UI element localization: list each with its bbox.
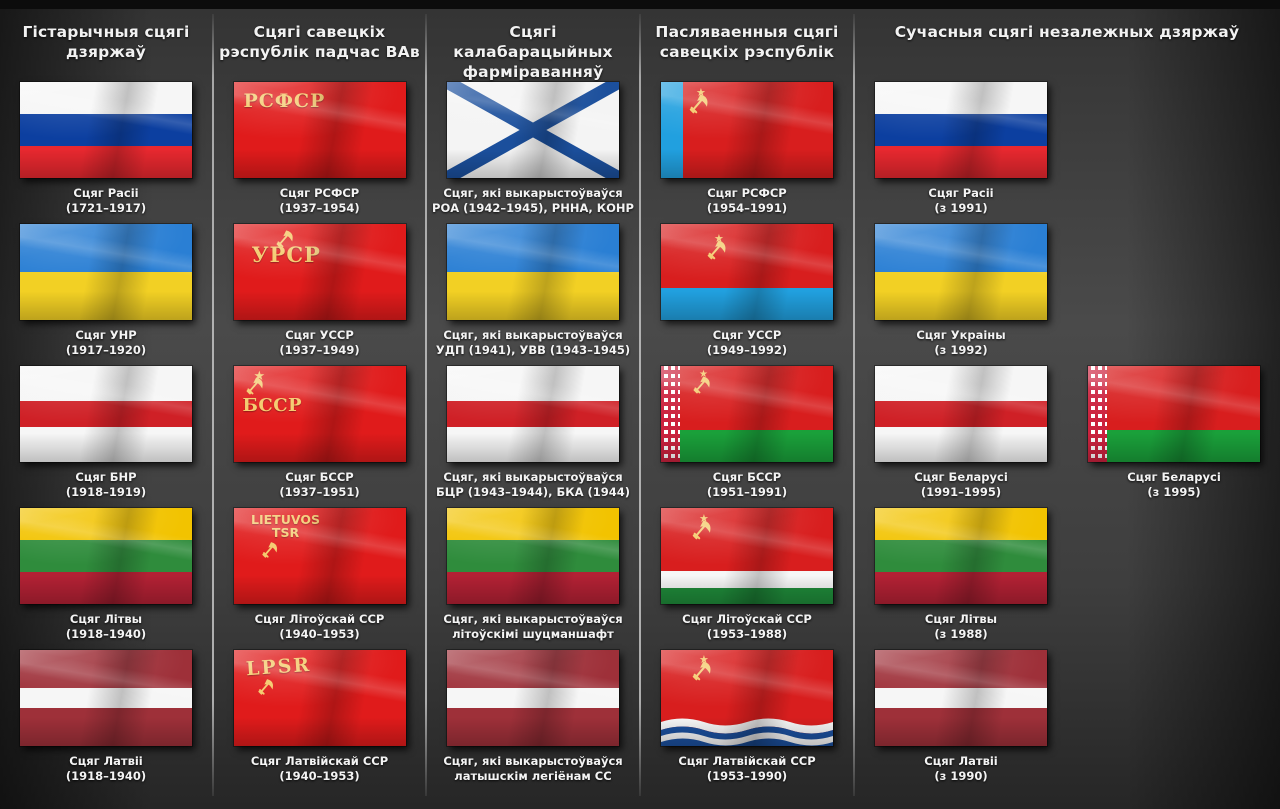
flag-cell: Сцяг Літвы (1918–1940) <box>0 508 212 642</box>
flag-cell: УРСР Сцяг УССР (1937–1949) <box>214 224 425 358</box>
flag-latvian-ssr-1953: ★ <box>661 650 833 746</box>
flag-caption: Сцяг Беларусі (з 1995) <box>1068 470 1280 500</box>
flag-caption: Сцяг УССР (1949–1992) <box>641 328 853 358</box>
flag-cell: Сцяг Літвы (з 1988) <box>855 508 1067 642</box>
flag-byelorussian-ssr-1937: ★ БССР <box>234 366 406 462</box>
flag-caption: Сцяг РСФСР (1937–1954) <box>214 186 425 216</box>
flag-rsfsr-1954: ★ <box>661 82 833 178</box>
hammer-sickle-icon <box>690 519 714 541</box>
flag-caption: Сцяг, які выкарыстоўваўся БЦР (1943–1944… <box>427 470 639 500</box>
flag-caption: Сцяг, які выкарыстоўваўся латышскім легі… <box>427 754 639 784</box>
flag-lithuanian-ssr-1953: ★ <box>661 508 833 604</box>
column-historical-state-flags: Гістарычныя сцягі дзяржаў Сцяг Расіі (17… <box>0 9 212 809</box>
flag-image-wrap <box>0 366 212 462</box>
flag-caption: Сцяг Латвіі (з 1990) <box>855 754 1067 784</box>
hammer-sickle-icon <box>690 660 714 682</box>
flag-ukraine-unr <box>20 224 192 320</box>
flag-caption: Сцяг Літвы (1918–1940) <box>0 612 212 642</box>
flag-ukrainian-ssr-1937: УРСР <box>234 224 406 320</box>
flag-caption: Сцяг Латвійскай ССР (1940–1953) <box>214 754 425 784</box>
flag-inscription: БССР <box>243 395 303 416</box>
flag-image-wrap <box>855 508 1067 604</box>
flag-image-wrap <box>855 366 1067 462</box>
flag-caption: Сцяг Латвіі (1918–1940) <box>0 754 212 784</box>
flag-ukraine-blue-yellow <box>875 224 1047 320</box>
flag-caption: Сцяг Украіны (з 1992) <box>855 328 1067 358</box>
flag-latvia-carmine <box>447 650 619 746</box>
flag-cell: LIETUVOS TSR Сцяг Літоўскай ССР (1940–19… <box>214 508 425 642</box>
flag-caption: Сцяг Літоўскай ССР (1953–1988) <box>641 612 853 642</box>
flag-caption: Сцяг РСФСР (1954–1991) <box>641 186 853 216</box>
flag-roa-saltire <box>447 82 619 178</box>
flag-bnr-white-red-white <box>20 366 192 462</box>
flag-image-wrap: УРСР <box>214 224 425 320</box>
flag-bnr-white-red-white <box>875 366 1047 462</box>
flag-cell: Сцяг Расіі (1721–1917) <box>0 82 212 216</box>
flag-image-wrap <box>0 650 212 746</box>
flag-cell: ★ Сцяг УССР (1949–1992) <box>641 224 853 358</box>
flag-cell: Сцяг, які выкарыстоўваўся літоўскімі шуц… <box>427 508 639 642</box>
hammer-sickle-icon <box>705 239 729 261</box>
flag-caption: Сцяг БНР (1918–1919) <box>0 470 212 500</box>
flag-lithuania-tricolor <box>20 508 192 604</box>
flag-image-wrap <box>1068 366 1280 462</box>
flag-lithuania-tricolor <box>447 508 619 604</box>
flag-caption: Сцяг БССР (1937–1951) <box>214 470 425 500</box>
flag-cell: ★ Сцяг Латвійскай ССР (1953–1990) <box>641 650 853 784</box>
flags-infographic-board: Гістарычныя сцягі дзяржаў Сцяг Расіі (17… <box>0 0 1280 809</box>
flag-cell: Сцяг, які выкарыстоўваўся БЦР (1943–1944… <box>427 366 639 500</box>
hammer-sickle-icon <box>256 678 276 696</box>
flag-image-wrap <box>427 508 639 604</box>
flag-bnr-white-red-white <box>447 366 619 462</box>
hammer-sickle-icon <box>244 376 266 396</box>
flag-lithuanian-ssr-1940: LIETUVOS TSR <box>234 508 406 604</box>
column-soviet-wwii-flags: Сцягі савецкіх рэспублік падчас ВАв РСФС… <box>214 9 425 809</box>
flag-cell: Сцяг, які выкарыстоўваўся латышскім легі… <box>427 650 639 784</box>
flag-caption: Сцяг Латвійскай ССР (1953–1990) <box>641 754 853 784</box>
flag-cell: ★ Сцяг Літоўскай ССР (1953–1988) <box>641 508 853 642</box>
flag-cell: Сцяг Латвіі (1918–1940) <box>0 650 212 784</box>
flag-caption: Сцяг Літвы (з 1988) <box>855 612 1067 642</box>
column-header-1: Гістарычныя сцягі дзяржаў <box>0 9 212 62</box>
flag-russia-tricolor <box>20 82 192 178</box>
flag-inscription: РСФСР <box>244 90 326 112</box>
flag-image-wrap: ★ <box>641 650 853 746</box>
flag-image-wrap <box>855 224 1067 320</box>
flag-inscription: LPSR <box>245 654 312 680</box>
flag-cell: РСФСР Сцяг РСФСР (1937–1954) <box>214 82 425 216</box>
belarus-ornament <box>661 366 680 462</box>
top-bar <box>0 0 1280 9</box>
flag-image-wrap <box>427 366 639 462</box>
flag-image-wrap <box>427 82 639 178</box>
hammer-sickle-icon <box>691 375 713 395</box>
flag-caption: Сцяг УНР (1917–1920) <box>0 328 212 358</box>
hammer-sickle-icon <box>687 93 711 115</box>
flag-image-wrap: ★ БССР <box>214 366 425 462</box>
flag-inscription: LIETUVOS TSR <box>244 513 328 539</box>
flag-cell: Сцяг Расіі (з 1991) <box>855 82 1067 216</box>
flag-ukrainian-ssr-1949: ★ <box>661 224 833 320</box>
flag-caption: Сцяг Расіі (з 1991) <box>855 186 1067 216</box>
flag-cell: Сцяг, які выкарыстоўваўся УДП (1941), УВ… <box>427 224 639 358</box>
column-header-4: Пасляваенныя сцягі савецкіх рэспублік <box>641 9 853 62</box>
flag-image-wrap <box>0 508 212 604</box>
belarus-ornament <box>1088 366 1107 462</box>
column-collaborationist-flags: Сцягі калабарацыйных фарміраванняў Сцяг,… <box>427 9 639 809</box>
flag-caption: Сцяг УССР (1937–1949) <box>214 328 425 358</box>
flag-image-wrap <box>427 224 639 320</box>
flag-cell: LPSR Сцяг Латвійскай ССР (1940–1953) <box>214 650 425 784</box>
flag-cell: Сцяг УНР (1917–1920) <box>0 224 212 358</box>
flag-image-wrap: ★ <box>641 82 853 178</box>
column-extra-belarus-1995: Сцяг Беларусі (з 1995) <box>1068 9 1280 809</box>
flag-image-wrap: ★ <box>641 508 853 604</box>
flag-cell: Сцяг Украіны (з 1992) <box>855 224 1067 358</box>
flag-cell: Сцяг Латвіі (з 1990) <box>855 650 1067 784</box>
flag-caption: Сцяг, які выкарыстоўваўся літоўскімі шуц… <box>427 612 639 642</box>
flag-image-wrap <box>0 82 212 178</box>
flag-image-wrap: РСФСР <box>214 82 425 178</box>
flag-image-wrap: LPSR <box>214 650 425 746</box>
flag-latvian-ssr-1940: LPSR <box>234 650 406 746</box>
flag-cell: Сцяг Беларусі (1991–1995) <box>855 366 1067 500</box>
flag-caption: Сцяг, які выкарыстоўваўся УДП (1941), УВ… <box>427 328 639 358</box>
column-header-3: Сцягі калабарацыйных фарміраванняў <box>427 9 639 82</box>
flag-lithuania-tricolor <box>875 508 1047 604</box>
flag-caption: Сцяг Літоўскай ССР (1940–1953) <box>214 612 425 642</box>
flag-caption: Сцяг Расіі (1721–1917) <box>0 186 212 216</box>
flag-image-wrap: ★ <box>641 224 853 320</box>
flag-caption: Сцяг Беларусі (1991–1995) <box>855 470 1067 500</box>
flag-image-wrap <box>855 650 1067 746</box>
flag-cell: Сцяг Беларусі (з 1995) <box>1068 366 1280 500</box>
flag-ukraine-blue-yellow <box>447 224 619 320</box>
flag-image-wrap: ★ <box>641 366 853 462</box>
flag-image-wrap <box>0 224 212 320</box>
flag-cell: Сцяг БНР (1918–1919) <box>0 366 212 500</box>
flag-image-wrap <box>855 82 1067 178</box>
flag-cell: ★ БССР Сцяг БССР (1937–1951) <box>214 366 425 500</box>
flag-latvia-carmine <box>875 650 1047 746</box>
flag-belarus-1995 <box>1088 366 1260 462</box>
flag-cell: ★ Сцяг РСФСР (1954–1991) <box>641 82 853 216</box>
flag-cell: ★ Сцяг БССР (1951–1991) <box>641 366 853 500</box>
column-modern-independent-flags: Сучасныя сцягі незалежных дзяржаў Сцяг Р… <box>855 9 1067 809</box>
column-postwar-soviet-flags: Пасляваенныя сцягі савецкіх рэспублік ★ … <box>641 9 853 809</box>
flag-byelorussian-ssr-1951: ★ <box>661 366 833 462</box>
flag-latvia-carmine <box>20 650 192 746</box>
flag-inscription: УРСР <box>252 242 321 267</box>
flag-cell: Сцяг, які выкарыстоўваўся РОА (1942–1945… <box>427 82 639 216</box>
hammer-sickle-icon <box>260 541 280 559</box>
flag-image-wrap <box>427 650 639 746</box>
column-header-2: Сцягі савецкіх рэспублік падчас ВАв <box>214 9 425 62</box>
flag-rsfsr-1937: РСФСР <box>234 82 406 178</box>
flag-caption: Сцяг БССР (1951–1991) <box>641 470 853 500</box>
flag-caption: Сцяг, які выкарыстоўваўся РОА (1942–1945… <box>427 186 639 216</box>
flag-russia-tricolor <box>875 82 1047 178</box>
flag-image-wrap: LIETUVOS TSR <box>214 508 425 604</box>
